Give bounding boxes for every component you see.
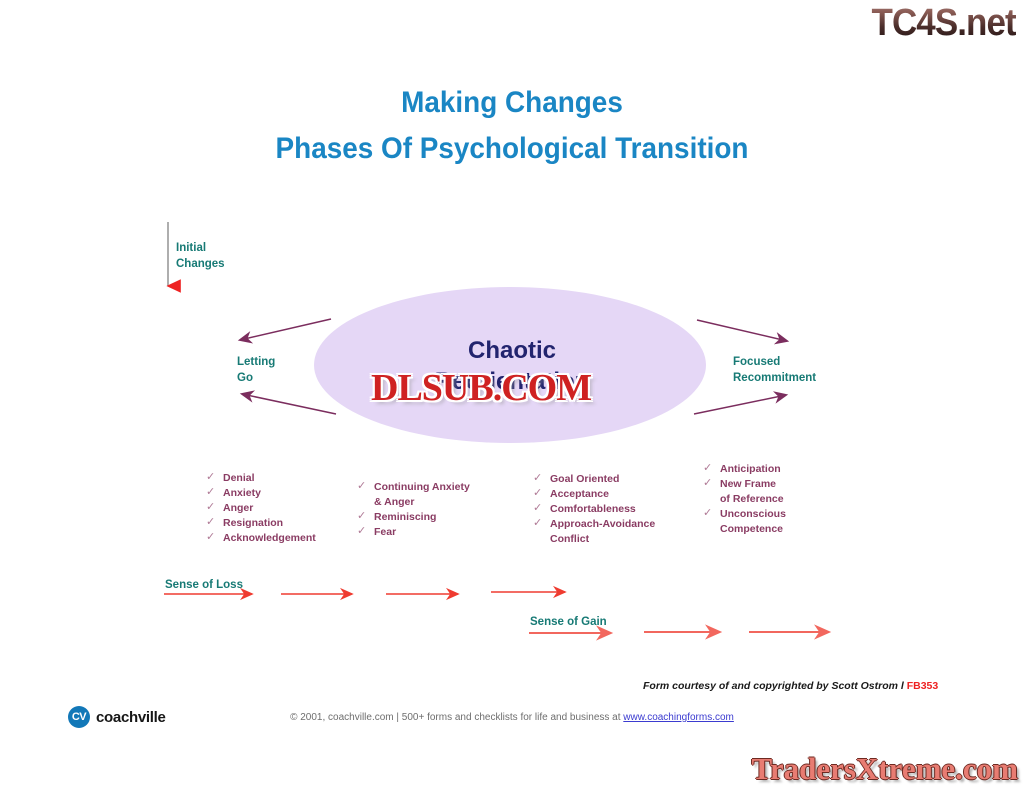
check-icon: ✓ [206, 515, 215, 531]
check-icon: ✓ [703, 506, 712, 522]
check-icon: ✓ [533, 486, 542, 502]
trait-label: Approach-Avoidance [550, 518, 655, 530]
label-sense-of-gain: Sense of Gain [530, 615, 607, 631]
coachville-logo: CV coachville [68, 706, 166, 728]
list-item: ✓Continuing Anxiety [357, 480, 470, 495]
list-item: ✓Goal Oriented [533, 472, 655, 487]
list-item: ✓Unconscious [703, 507, 786, 522]
label-sense-of-loss: Sense of Loss [165, 578, 243, 594]
check-icon: ✓ [206, 470, 215, 486]
check-icon: ✓ [533, 471, 542, 487]
trait-list: ✓Anticipation ✓New Frame of Reference ✓U… [703, 462, 786, 537]
list-item: ✓Approach-Avoidance [533, 517, 655, 532]
ellipse-label-line-1: Chaotic [0, 336, 1024, 367]
label-initial-changes-line-2: Changes [176, 257, 225, 273]
trait-label: New Frame [720, 478, 776, 490]
list-item: ✓New Frame [703, 477, 786, 492]
trait-label: of Reference [720, 493, 784, 505]
list-item: of Reference [703, 492, 786, 507]
list-item: ✓Acknowledgement [206, 531, 316, 546]
check-icon: ✓ [206, 530, 215, 546]
label-initial-changes: Initial Changes [176, 241, 225, 272]
form-credit-text: Form courtesy of and copyrighted by Scot… [643, 680, 907, 692]
list-item: ✓Anger [206, 501, 316, 516]
check-icon: ✓ [533, 516, 542, 532]
list-item: ✓Resignation [206, 516, 316, 531]
sense-of-gain-flow-arrows [529, 632, 829, 633]
trait-label: Acceptance [550, 488, 609, 500]
trait-label: Anger [223, 502, 253, 514]
list-item: ✓Anticipation [703, 462, 786, 477]
trait-list: ✓Continuing Anxiety & Anger ✓Reminiscing… [357, 480, 470, 540]
trait-column-letting-go: ✓Denial ✓Anxiety ✓Anger ✓Resignation ✓Ac… [206, 471, 316, 546]
check-icon: ✓ [206, 500, 215, 516]
trait-column-chaotic-reorientation: ✓Continuing Anxiety & Anger ✓Reminiscing… [357, 480, 470, 540]
check-icon: ✓ [357, 479, 366, 495]
trait-label: Fear [374, 526, 396, 538]
list-item: ✓Comfortableness [533, 502, 655, 517]
check-icon: ✓ [357, 524, 366, 540]
form-credit: Form courtesy of and copyrighted by Scot… [643, 680, 938, 692]
form-code: FB353 [907, 680, 939, 692]
label-initial-changes-line-1: Initial [176, 241, 225, 257]
trait-label: Unconscious [720, 508, 786, 520]
list-item: Competence [703, 522, 786, 537]
list-item: Conflict [533, 532, 655, 547]
trait-label: Competence [720, 523, 783, 535]
trait-label: Reminiscing [374, 511, 436, 523]
trait-label: Goal Oriented [550, 473, 619, 485]
check-icon: ✓ [357, 509, 366, 525]
check-icon: ✓ [703, 461, 712, 477]
list-item: ✓Anxiety [206, 486, 316, 501]
check-icon: ✓ [533, 501, 542, 517]
trait-label: Denial [223, 472, 255, 484]
footer-text: © 2001, coachville.com | 500+ forms and … [290, 712, 623, 723]
trait-label: Continuing Anxiety [374, 481, 470, 493]
list-item: ✓Acceptance [533, 487, 655, 502]
dlsub-watermark: DLSUB.COM [371, 366, 591, 410]
trait-label: Conflict [550, 533, 589, 545]
trait-column-focused-recommitment: ✓Goal Oriented ✓Acceptance ✓Comfortablen… [533, 472, 655, 547]
coachville-badge: CV [68, 706, 90, 728]
list-item: & Anger [357, 495, 470, 510]
trait-label: Resignation [223, 517, 283, 529]
trait-label: & Anger [374, 496, 414, 508]
coachville-wordmark: coachville [96, 709, 166, 726]
trait-label: Comfortableness [550, 503, 636, 515]
trait-list: ✓Goal Oriented ✓Acceptance ✓Comfortablen… [533, 472, 655, 547]
check-icon: ✓ [206, 485, 215, 501]
check-icon: ✓ [703, 476, 712, 492]
trait-label: Anticipation [720, 463, 781, 475]
list-item: ✓Denial [206, 471, 316, 486]
list-item: ✓Reminiscing [357, 510, 470, 525]
trait-list: ✓Denial ✓Anxiety ✓Anger ✓Resignation ✓Ac… [206, 471, 316, 546]
trait-label: Acknowledgement [223, 532, 316, 544]
list-item: ✓Fear [357, 525, 470, 540]
coachingforms-link[interactable]: www.coachingforms.com [623, 712, 734, 723]
trait-column-integration: ✓Anticipation ✓New Frame of Reference ✓U… [703, 462, 786, 537]
trait-label: Anxiety [223, 487, 261, 499]
tradersxtreme-watermark: TradersXtreme.com [751, 751, 1018, 787]
